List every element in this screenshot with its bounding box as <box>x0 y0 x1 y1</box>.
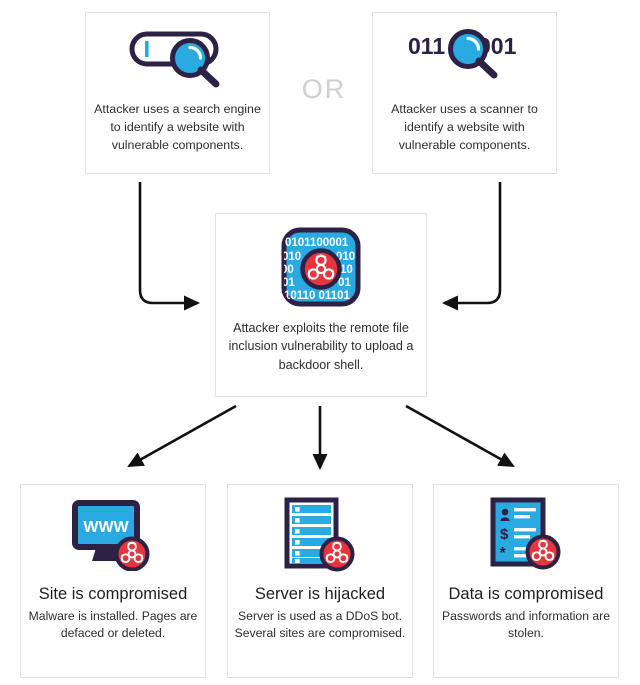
card-site-caption: Malware is installed. Pages are defaced … <box>21 608 205 643</box>
svg-text:0101100001: 0101100001 <box>285 237 349 249</box>
card-server-hijacked: Server is hijacked Server is used as a D… <box>227 484 413 678</box>
card-exploit: 0101100001 010010 0010 0101 10110 01101 <box>215 213 427 397</box>
card-data-compromised: $ * <box>433 484 619 678</box>
search-box-magnifier-icon <box>122 26 234 88</box>
card-site-compromised: WWW Site is compromised Malware is insta… <box>20 484 206 678</box>
binary-magnifier-scanner-icon-wrap: 011 001 <box>373 13 556 101</box>
card-data-caption: Passwords and information are stolen. <box>434 608 618 643</box>
server-rack-biohazard-icon-wrap <box>228 485 412 585</box>
card-search-engine: Attacker uses a search engine to identif… <box>85 12 270 174</box>
card-site-heading: Site is compromised <box>39 585 188 605</box>
card-data-heading: Data is compromised <box>449 585 604 605</box>
card-exploit-caption: Attacker exploits the remote file inclus… <box>216 319 426 374</box>
or-label: OR <box>288 74 360 105</box>
arrow-search-to-exploit <box>140 182 198 303</box>
card-search-engine-caption: Attacker uses a search engine to identif… <box>86 101 269 155</box>
card-server-heading: Server is hijacked <box>255 585 385 605</box>
monitor-www-biohazard-icon-wrap: WWW <box>21 485 205 585</box>
svg-text:*: * <box>500 545 507 562</box>
card-server-caption: Server is used as a DDoS bot. Several si… <box>228 608 412 643</box>
binary-biohazard-malware-icon-wrap: 0101100001 010010 0010 0101 10110 01101 <box>216 214 426 319</box>
svg-text:WWW: WWW <box>83 519 129 536</box>
arrow-exploit-to-site <box>129 406 236 466</box>
svg-text:10: 10 <box>340 264 353 276</box>
svg-text:01: 01 <box>282 277 295 289</box>
svg-text:10110 01101: 10110 01101 <box>284 290 350 302</box>
svg-text:$: $ <box>500 526 509 543</box>
card-scanner: 011 001 Attacker uses a scanner to ident… <box>372 12 557 174</box>
arrow-exploit-to-data <box>406 406 513 466</box>
svg-text:010: 010 <box>282 251 301 263</box>
document-credentials-biohazard-icon: $ * <box>483 497 569 573</box>
diagram-canvas: Attacker uses a search engine to identif… <box>0 0 640 685</box>
binary-magnifier-scanner-icon: 011 001 <box>406 26 524 88</box>
binary-biohazard-malware-icon: 0101100001 010010 0010 0101 10110 01101 <box>278 224 364 310</box>
svg-text:01: 01 <box>338 277 351 289</box>
search-box-magnifier-icon-wrap <box>86 13 269 101</box>
svg-text:011: 011 <box>408 33 445 59</box>
monitor-www-biohazard-icon: WWW <box>70 499 156 571</box>
card-scanner-caption: Attacker uses a scanner to identify a we… <box>373 101 556 155</box>
arrow-scanner-to-exploit <box>444 182 500 303</box>
server-rack-biohazard-icon <box>277 497 363 573</box>
document-credentials-biohazard-icon-wrap: $ * <box>434 485 618 585</box>
